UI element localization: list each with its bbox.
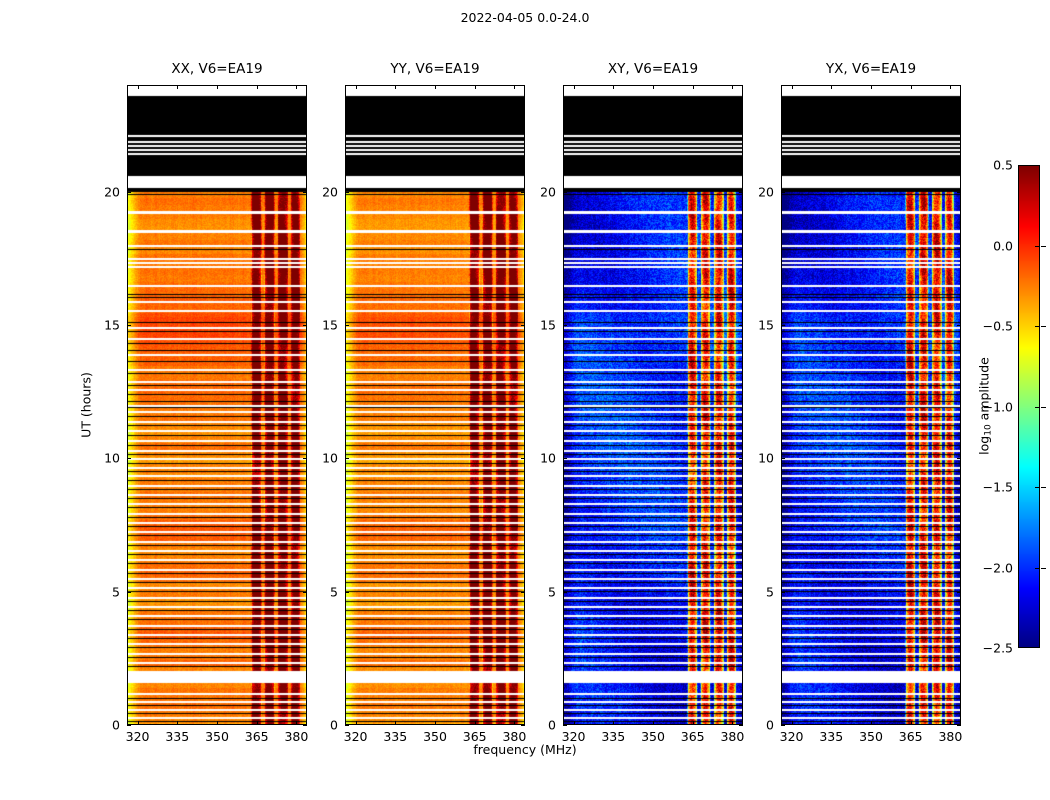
- yticklabels-xy: 05101520: [555, 85, 556, 725]
- colorbar-tick-mark: [1041, 568, 1046, 569]
- ytick-mark-right: [521, 725, 525, 726]
- colorbar-tick-mark-right: [1035, 246, 1040, 247]
- figure-suptitle: 2022-04-05 0.0-24.0: [0, 10, 1050, 25]
- ytick-label: 10: [758, 451, 774, 466]
- ytick-mark: [781, 725, 785, 726]
- yticklabels-yx: 05101520: [773, 85, 774, 725]
- colorbar-tick-label: −1.5: [983, 480, 1013, 495]
- colorbar-ticklabels: −2.5−2.0−1.5−1.0−0.50.00.5: [1012, 165, 1013, 648]
- panel-xy[interactable]: XY, V6=EA19 320335350365380 05101520: [563, 85, 743, 725]
- panel-title-xx: XX, V6=EA19: [127, 61, 307, 77]
- ytick-mark: [345, 725, 349, 726]
- colorbar-tick-mark: [1041, 326, 1046, 327]
- colorbar-label: log10 amplitude: [976, 357, 993, 455]
- y-axis-label: UT (hours): [79, 372, 94, 438]
- ytick-mark: [563, 725, 567, 726]
- panel-title-yx: YX, V6=EA19: [781, 61, 961, 77]
- waterfall-axes-xy[interactable]: [563, 85, 743, 725]
- ytick-label: 0: [112, 718, 120, 733]
- ytick-label: 0: [766, 718, 774, 733]
- colorbar-tick-mark-right: [1035, 487, 1040, 488]
- ytick-label: 20: [540, 184, 556, 199]
- panel-xx[interactable]: XX, V6=EA19 320335350365380 05101520: [127, 85, 307, 725]
- colorbar-tick-mark-right: [1035, 407, 1040, 408]
- colorbar-tick-mark: [1041, 407, 1046, 408]
- panel-yy[interactable]: YY, V6=EA19 320335350365380 05101520: [345, 85, 525, 725]
- colorbar-tick-mark: [1041, 487, 1046, 488]
- ytick-label: 10: [104, 451, 120, 466]
- ytick-mark-right: [303, 725, 307, 726]
- ytick-label: 15: [104, 318, 120, 333]
- colorbar-tick-mark-right: [1035, 568, 1040, 569]
- ytick-label: 5: [766, 584, 774, 599]
- yticklabels-xx: 05101520: [119, 85, 120, 725]
- colorbar-tick-label: −2.5: [983, 641, 1013, 656]
- colorbar-tick-mark-right: [1035, 326, 1040, 327]
- ytick-mark-right: [739, 725, 743, 726]
- ytick-label: 5: [330, 584, 338, 599]
- colorbar-label-prefix: log: [976, 436, 991, 455]
- ytick-label: 20: [758, 184, 774, 199]
- ytick-label: 20: [322, 184, 338, 199]
- figure-canvas: 2022-04-05 0.0-24.0 XX, V6=EA19 32033535…: [0, 0, 1050, 800]
- ytick-label: 10: [540, 451, 556, 466]
- ytick-label: 15: [322, 318, 338, 333]
- ytick-label: 15: [540, 318, 556, 333]
- colorbar-tick-mark: [1041, 246, 1046, 247]
- ytick-mark: [127, 725, 131, 726]
- ytick-label: 15: [758, 318, 774, 333]
- panel-title-xy: XY, V6=EA19: [563, 61, 743, 77]
- ytick-label: 0: [330, 718, 338, 733]
- waterfall-axes-xx[interactable]: [127, 85, 307, 725]
- ytick-label: 5: [112, 584, 120, 599]
- colorbar-label-suffix: amplitude: [976, 357, 991, 424]
- colorbar-tick-label: −2.0: [983, 560, 1013, 575]
- yticklabels-yy: 05101520: [337, 85, 338, 725]
- ytick-label: 10: [322, 451, 338, 466]
- ytick-mark-right: [957, 725, 961, 726]
- waterfall-axes-yx[interactable]: [781, 85, 961, 725]
- x-axis-label: frequency (MHz): [0, 742, 1050, 757]
- colorbar-tick-label: 0.0: [993, 238, 1013, 253]
- panel-yx[interactable]: YX, V6=EA19 320335350365380 05101520: [781, 85, 961, 725]
- colorbar-tick-label: −0.5: [983, 319, 1013, 334]
- ytick-label: 20: [104, 184, 120, 199]
- waterfall-axes-yy[interactable]: [345, 85, 525, 725]
- panel-title-yy: YY, V6=EA19: [345, 61, 525, 77]
- ytick-label: 5: [548, 584, 556, 599]
- ytick-label: 0: [548, 718, 556, 733]
- colorbar-label-subscript: 10: [984, 424, 994, 435]
- colorbar-tick-label: 0.5: [993, 158, 1013, 173]
